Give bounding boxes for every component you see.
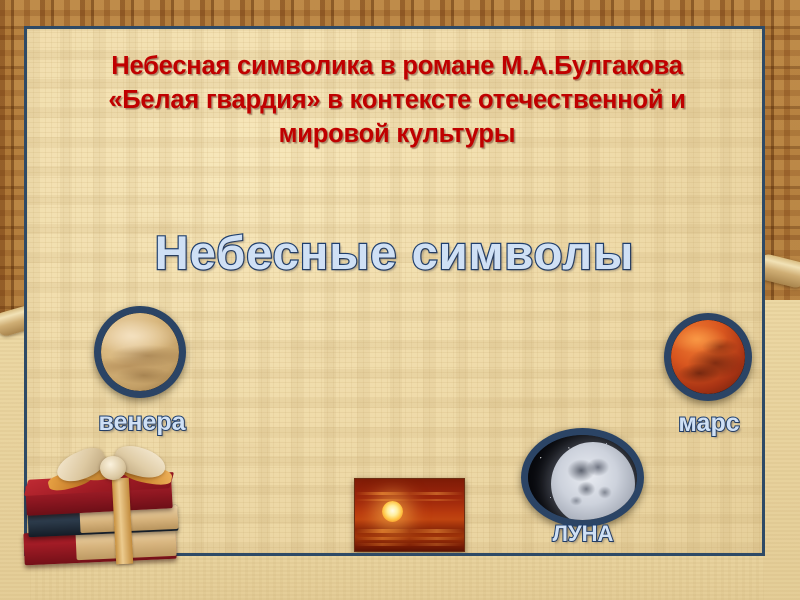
ribbon-bow-knot: [100, 456, 126, 480]
page-title: Небесная символика в романе М.А.Булгаков…: [39, 49, 755, 151]
cloud-band: [355, 537, 464, 540]
label-mars: марс: [649, 408, 765, 438]
sun-photo-icon: [354, 478, 465, 552]
books-stack-icon: [18, 432, 190, 582]
presentation-slide: Небесная символика в романе М.А.Булгаков…: [0, 0, 800, 600]
title-line-2: «Белая гвардия» в контексте отечественно…: [39, 83, 755, 117]
venus-surface: [101, 313, 179, 391]
cloud-band: [355, 492, 464, 495]
cloud-band: [355, 529, 464, 533]
title-line-3: мировой культуры: [39, 117, 755, 151]
venus-planet-icon: [94, 306, 186, 398]
cloud-band: [355, 543, 464, 546]
title-line-1: Небесная символика в романе М.А.Булгаков…: [39, 49, 755, 83]
moon-icon: [521, 428, 644, 527]
wordart-heading: Небесные символы: [27, 225, 762, 281]
sun-disc: [382, 501, 403, 522]
moon-disc: [551, 442, 635, 526]
label-sun: солнце: [343, 551, 479, 556]
mars-surface: [671, 320, 745, 394]
label-moon: ЛУНА: [523, 519, 643, 549]
mars-planet-icon: [664, 313, 752, 401]
cloud-band: [355, 499, 464, 501]
frame-right-band: [764, 300, 800, 600]
